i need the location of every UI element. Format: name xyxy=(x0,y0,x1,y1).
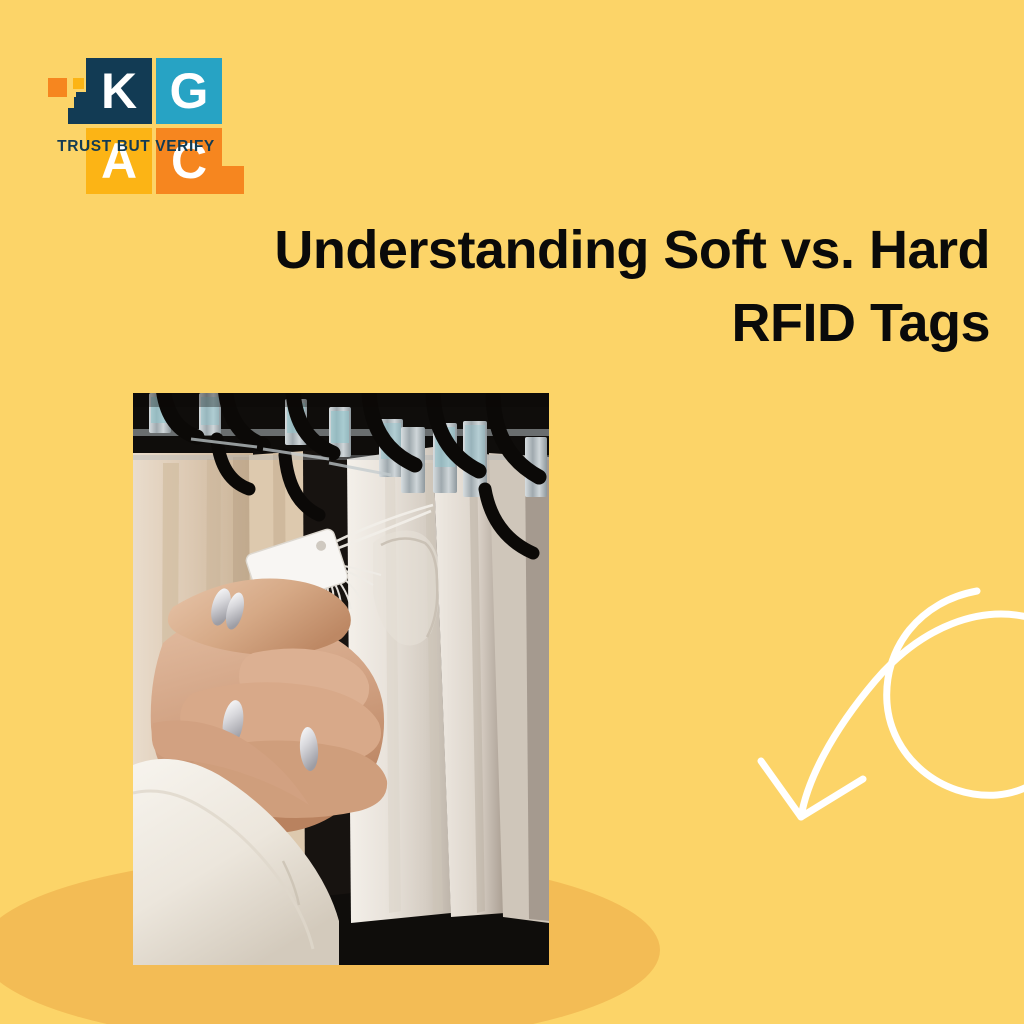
logo-letter-k: K xyxy=(86,58,152,124)
page-title-line-2: RFID Tags xyxy=(180,287,990,360)
page-title-line-1: Understanding Soft vs. Hard xyxy=(180,214,990,287)
kgac-logo[interactable]: K G A C xyxy=(46,56,261,206)
hero-photo-illustration xyxy=(133,393,549,965)
logo-orange-tail xyxy=(222,166,244,194)
curved-loop-arrow-icon xyxy=(745,575,1024,845)
hero-photo xyxy=(133,393,549,965)
logo-tagline: TRUST BUT VERIFY xyxy=(46,138,226,156)
logo-navy-tail-lower xyxy=(68,108,88,124)
logo-accent-square-amber xyxy=(73,78,84,89)
page-title: Understanding Soft vs. Hard RFID Tags xyxy=(180,214,990,360)
poster-canvas: K G A C TRUST BUT VERIFY Understanding S… xyxy=(0,0,1024,1024)
logo-letter-g: G xyxy=(156,58,222,124)
logo-accent-square-orange xyxy=(48,78,67,97)
